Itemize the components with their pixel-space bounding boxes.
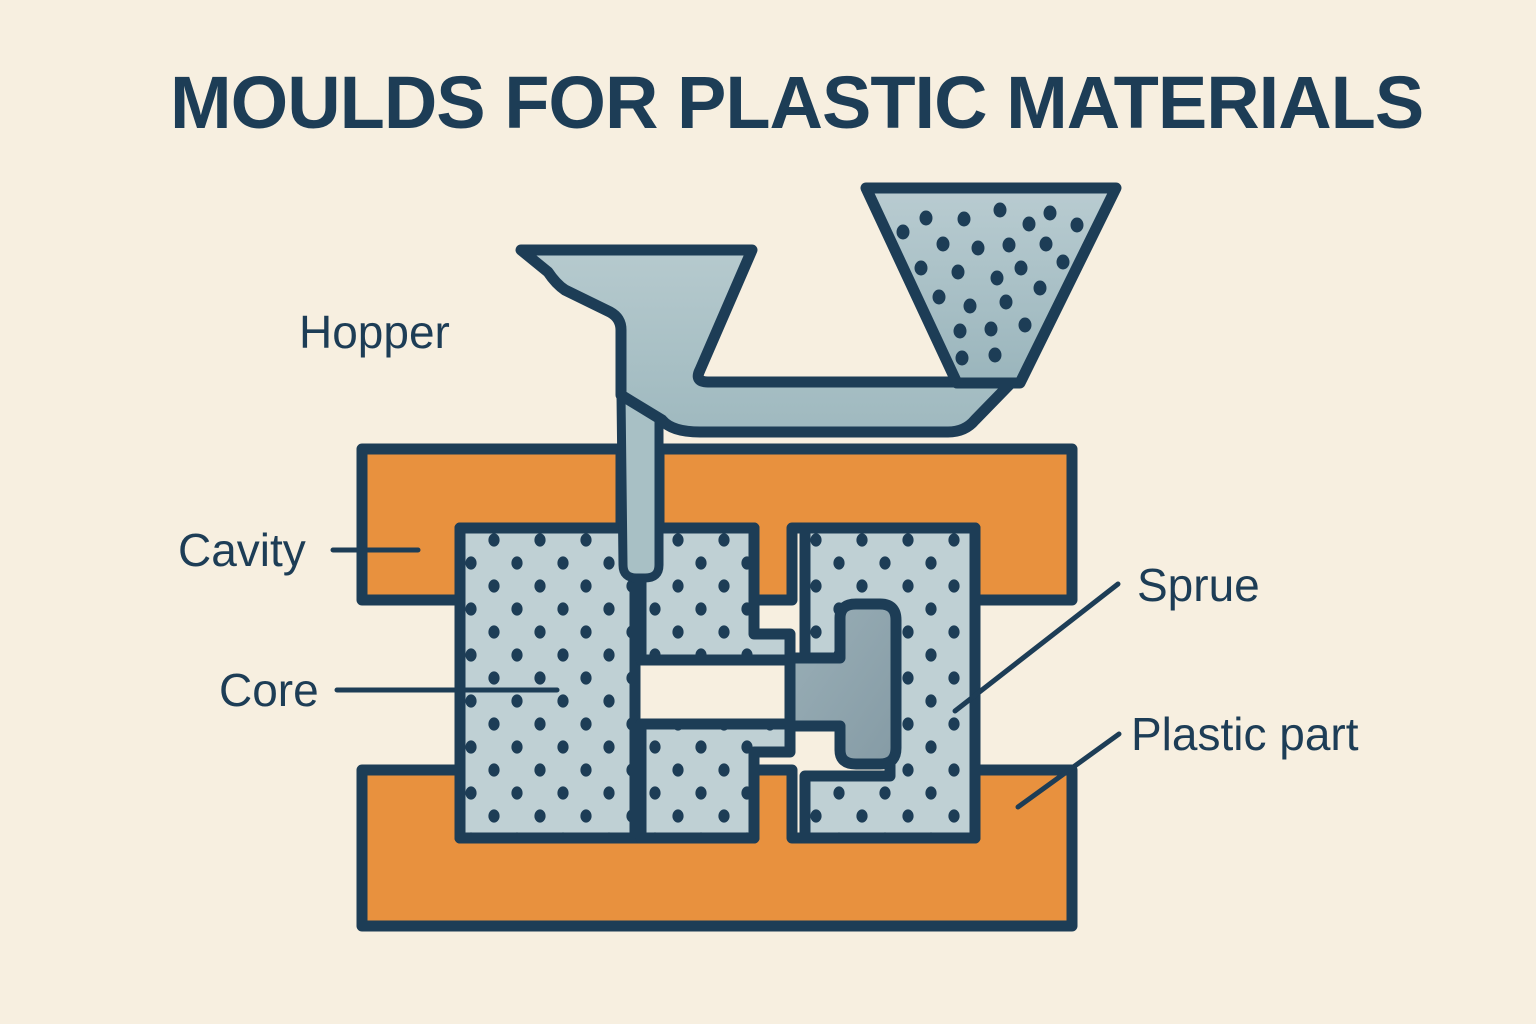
diagram-canvas: MOULDS FOR PLASTIC MATERIALS <box>0 0 1536 1024</box>
label-sprue: Sprue <box>1137 559 1260 611</box>
label-core: Core <box>219 664 319 716</box>
label-hopper: Hopper <box>299 306 450 358</box>
label-cavity: Cavity <box>178 524 306 576</box>
page-title: MOULDS FOR PLASTIC MATERIALS <box>170 61 1423 144</box>
core-left <box>460 528 635 838</box>
label-plastic-part: Plastic part <box>1131 708 1359 760</box>
sprue-channel <box>621 395 659 578</box>
